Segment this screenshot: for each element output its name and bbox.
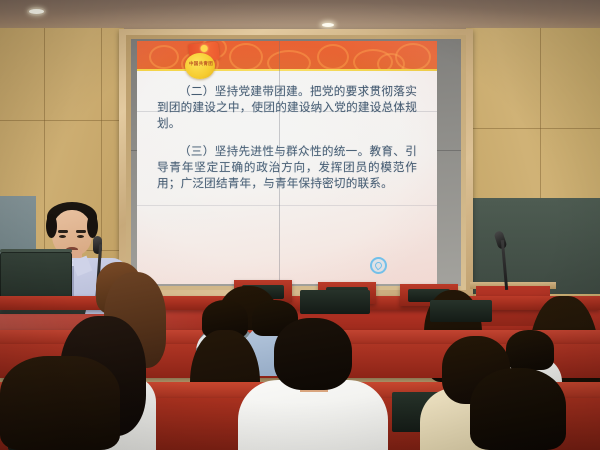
decorative-swirl <box>267 50 311 69</box>
decorative-swirl <box>377 53 405 69</box>
communist-youth-league-emblem: 中国共青团 <box>183 43 221 79</box>
recessed-ceiling-light <box>29 9 44 14</box>
decorative-swirl <box>149 45 179 69</box>
presenter-eyebrow <box>76 230 86 233</box>
slide-paragraph-2: （三）坚持先进性与群众性的统一。教育、引导青年坚定正确的政治方向，发挥团员的模范… <box>157 143 417 191</box>
presenter-eye <box>59 235 66 238</box>
person-front-right <box>470 368 566 450</box>
decorative-swirl <box>229 43 263 69</box>
presenter-hair-side <box>87 214 98 238</box>
hair <box>0 356 120 450</box>
wall-panel-seam <box>0 120 124 121</box>
presenter-eyebrow <box>58 230 68 233</box>
hair <box>274 318 352 390</box>
wall-panel-seam <box>466 128 600 129</box>
presenter-eye <box>77 235 84 238</box>
slide-header-accent-line <box>137 69 437 71</box>
ceiling-shading <box>0 0 600 30</box>
auditorium-photo: 中国共青团 （二）坚持党建带团建。把党的要求贯彻落实到团的建设之中，使团的建设纳… <box>0 0 600 450</box>
slide-paragraph-1: （二）坚持党建带团建。把党的要求贯彻落实到团的建设之中，使团的建设纳入党的建设总… <box>157 83 417 131</box>
person-white-tee-center <box>238 318 388 450</box>
recessed-ceiling-light <box>322 23 334 27</box>
star-icon <box>200 45 208 53</box>
slide-body: （二）坚持党建带团建。把党的要求贯彻落实到团的建设之中，使团的建设纳入党的建设总… <box>137 75 437 284</box>
slide-header-band <box>137 41 437 69</box>
decorative-swirl <box>317 44 349 69</box>
seat-back <box>430 300 492 322</box>
person-front-left <box>0 356 120 450</box>
seat-back <box>300 290 370 314</box>
media-refresh-icon[interactable] <box>370 257 387 274</box>
projected-slide: 中国共青团 （二）坚持党建带团建。把党的要求贯彻落实到团的建设之中，使团的建设纳… <box>137 41 437 284</box>
presenter-hair-side <box>46 214 57 238</box>
emblem-caption: 中国共青团 <box>188 61 214 67</box>
wall-chalkboard <box>466 198 600 294</box>
hair <box>470 368 566 450</box>
